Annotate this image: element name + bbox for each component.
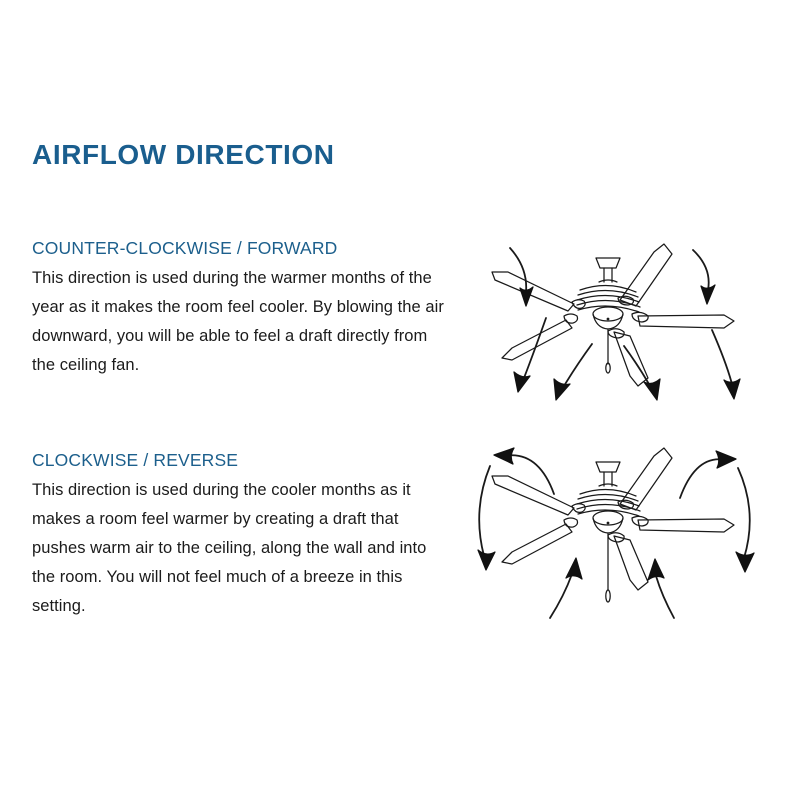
fan-upward-svg <box>468 428 768 628</box>
airflow-arrow-6-shaft <box>712 330 732 384</box>
airflow-arrow-3-head <box>514 372 530 392</box>
airflow-arrow-in-right-head <box>648 559 664 580</box>
section-clockwise: CLOCKWISE / REVERSE This direction is us… <box>32 450 452 621</box>
airflow-arrow-left-wall-head <box>478 550 495 570</box>
airflow-arrow-4-head <box>554 379 570 400</box>
downrod-collar <box>599 280 617 282</box>
blade-iron-right <box>632 516 648 526</box>
airflow-arrow-in-left-shaft <box>550 574 572 618</box>
airflow-arrow-in-right-shaft <box>656 576 674 618</box>
airflow-arrow-right-wall-shaft <box>738 468 750 558</box>
fan-blade-1 <box>492 272 574 311</box>
airflow-arrow-left-wall-shaft <box>479 466 490 556</box>
subheading-counter-clockwise: COUNTER-CLOCKWISE / FORWARD <box>32 238 452 259</box>
page-title: AIRFLOW DIRECTION <box>32 140 335 171</box>
airflow-arrow-up-left-head <box>494 448 514 464</box>
hub-screw <box>607 522 610 525</box>
airflow-arrow-4-shaft <box>564 344 592 386</box>
section-counter-clockwise: COUNTER-CLOCKWISE / FORWARD This directi… <box>32 238 452 380</box>
airflow-arrow-2-head <box>701 285 715 304</box>
airflow-arrow-up-right-head <box>716 451 736 468</box>
airflow-arrow-2-shaft <box>693 250 709 290</box>
airflow-arrow-5-head <box>644 379 660 400</box>
infographic-page: AIRFLOW DIRECTION COUNTER-CLOCKWISE / FO… <box>0 0 800 800</box>
airflow-arrow-6-head <box>724 379 740 399</box>
downrod-collar <box>599 484 617 486</box>
body-text-clockwise: This direction is used during the cooler… <box>32 476 452 621</box>
airflow-arrow-1-head <box>520 287 533 306</box>
fan-blade-4 <box>638 315 734 328</box>
subheading-clockwise: CLOCKWISE / REVERSE <box>32 450 452 471</box>
airflow-arrow-3-shaft <box>524 318 546 378</box>
fan-canopy <box>596 462 620 472</box>
pull-chain-knob <box>606 590 610 602</box>
fan-blade-2 <box>502 524 572 564</box>
fan-blade-5 <box>614 332 648 386</box>
body-text-counter-clockwise: This direction is used during the warmer… <box>32 264 452 380</box>
fan-downward-svg <box>468 236 768 411</box>
blade-iron-lower-left <box>564 518 578 527</box>
fan-canopy <box>596 258 620 268</box>
illustration-fan-downward-airflow <box>468 236 768 411</box>
blade-iron-lower-left <box>564 314 578 323</box>
fan-blade-2 <box>502 320 572 360</box>
fan-blade-1 <box>492 476 574 515</box>
illustration-fan-upward-airflow <box>468 428 768 628</box>
hub-screw <box>607 318 610 321</box>
airflow-arrow-right-wall-head <box>736 552 754 572</box>
airflow-arrow-1-shaft <box>510 248 526 292</box>
fan-blade-4 <box>638 519 734 532</box>
fan-blade-5 <box>614 536 648 590</box>
airflow-arrow-in-left-head <box>566 558 582 579</box>
blade-iron-right <box>632 312 648 322</box>
